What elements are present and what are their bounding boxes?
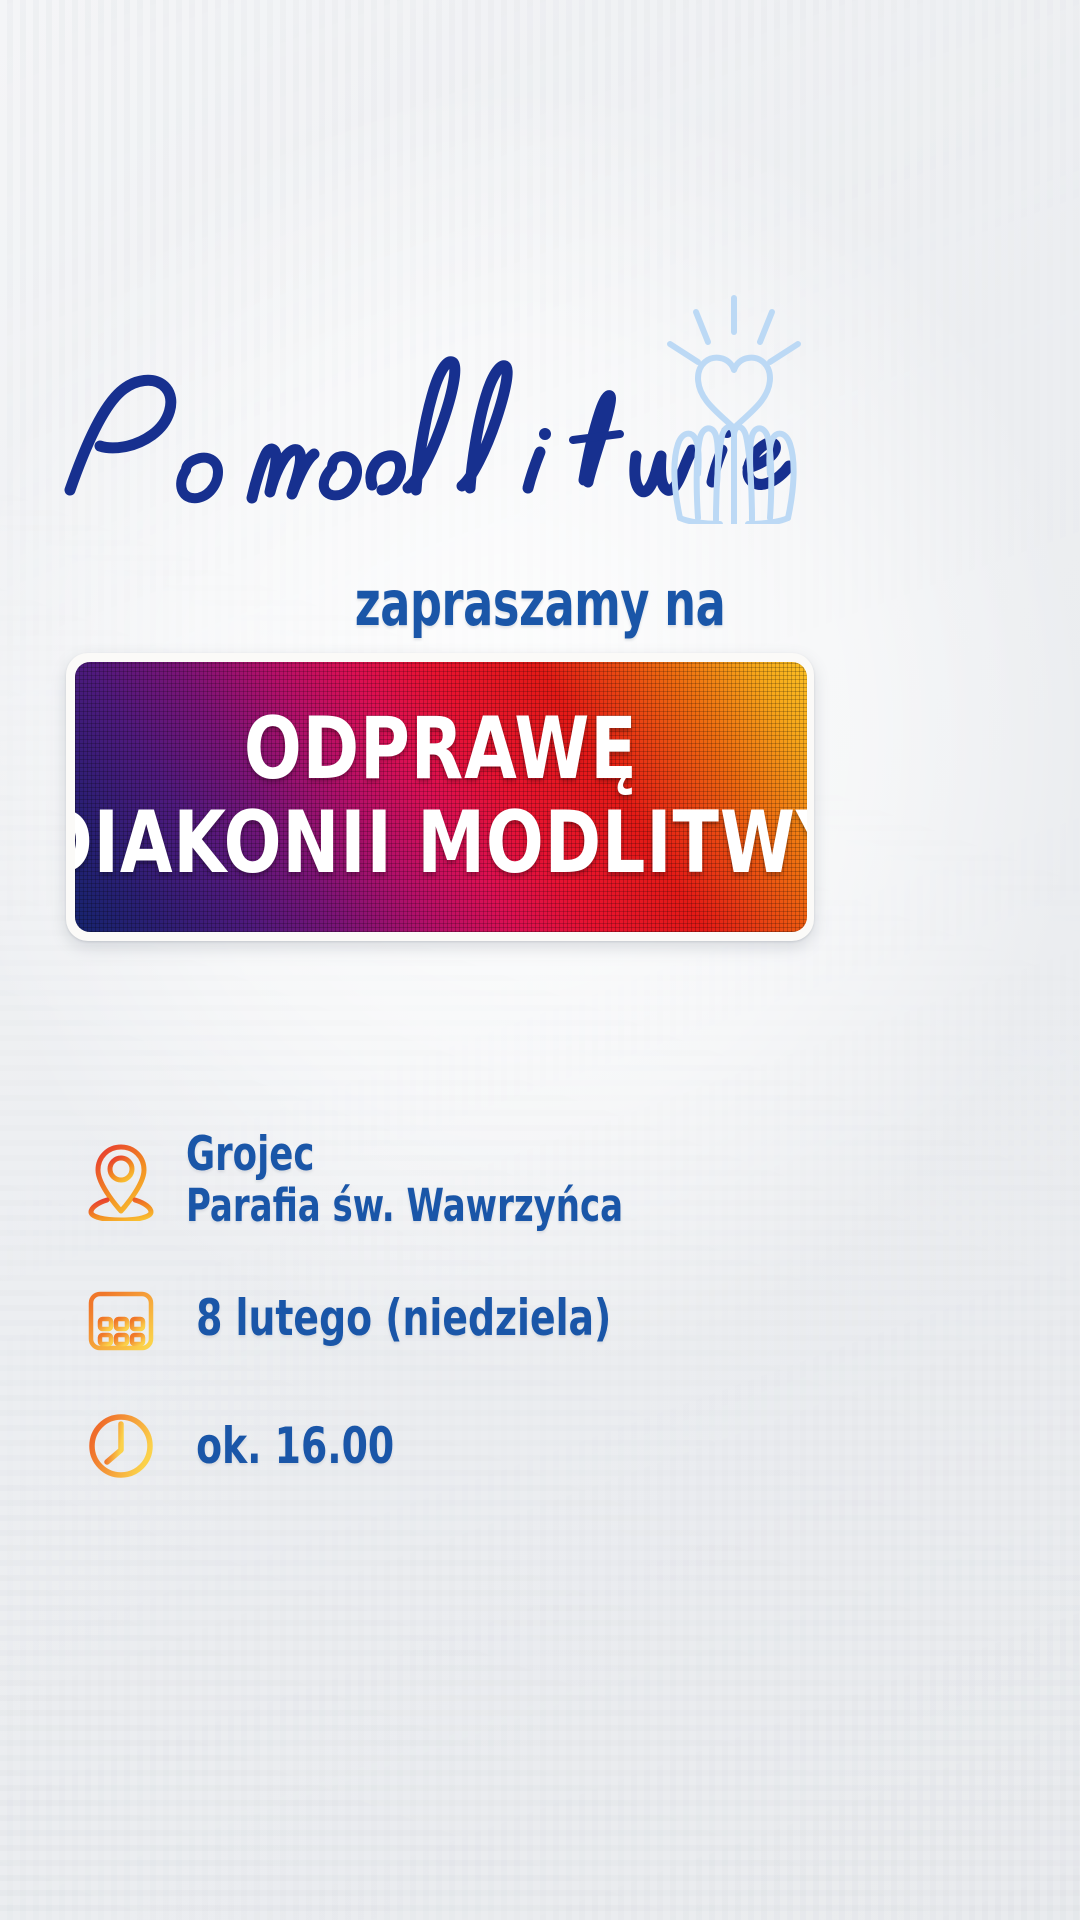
praying-hands-heart-icon	[648, 292, 820, 524]
banner-text-block: ODPRAWĘ DIAKONII MODLITWY	[75, 662, 807, 932]
location-text-block: Grojec Parafia św. Wawrzyńca	[186, 1130, 623, 1231]
banner-line-1: ODPRAWĘ	[244, 706, 638, 794]
event-banner: ODPRAWĘ DIAKONII MODLITWY	[66, 653, 814, 941]
banner-gradient: ODPRAWĘ DIAKONII MODLITWY	[75, 662, 807, 932]
location-city: Grojec	[186, 1130, 623, 1181]
clock-icon	[82, 1405, 160, 1487]
calendar-icon	[82, 1277, 160, 1359]
detail-row-time: ok. 16.00	[82, 1405, 842, 1487]
banner-line-2: DIAKONII MODLITWY	[75, 800, 807, 888]
subhead-text: zapraszamy na	[108, 567, 972, 640]
time-text: ok. 16.00	[186, 1419, 394, 1474]
detail-row-location: Grojec Parafia św. Wawrzyńca	[82, 1130, 842, 1231]
date-text: 8 lutego (niedziela)	[186, 1291, 611, 1346]
location-pin-icon	[82, 1140, 160, 1222]
background-horizontal-stripes	[0, 0, 1080, 1920]
event-details: Grojec Parafia św. Wawrzyńca	[82, 1130, 842, 1487]
script-headline: .sc { fill:none; stroke:#17308f; stroke-…	[0, 330, 1080, 510]
detail-row-date: 8 lutego (niedziela)	[82, 1277, 842, 1359]
location-parish: Parafia św. Wawrzyńca	[186, 1181, 623, 1231]
poster-canvas: .sc { fill:none; stroke:#17308f; stroke-…	[0, 0, 1080, 1920]
